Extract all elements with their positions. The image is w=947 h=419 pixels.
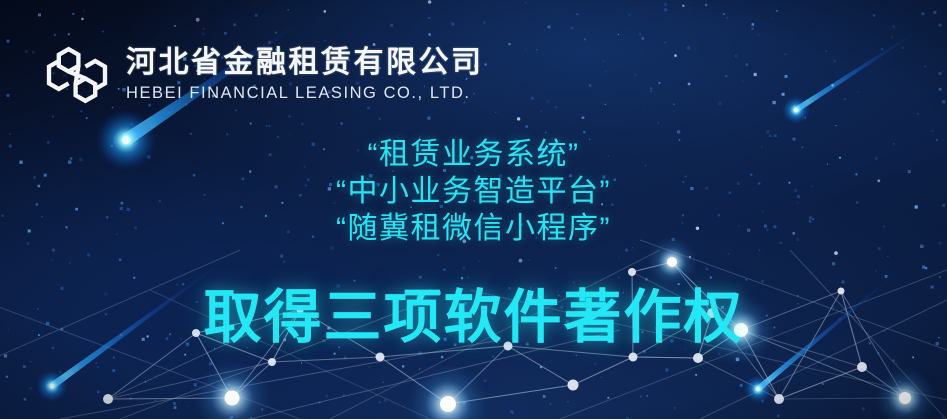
brand-lockup: 河北省金融租赁有限公司 HEBEI FINANCIAL LEASING CO.,…	[42, 40, 484, 110]
headline-line-3: “随冀租微信小程序”	[0, 210, 947, 247]
main-title: 取得三项软件著作权	[0, 284, 947, 352]
headline-line-1: “租赁业务系统”	[0, 136, 947, 173]
headline-group: “租赁业务系统” “中小业务智造平台” “随冀租微信小程序”	[0, 136, 947, 247]
headline-line-2: “中小业务智造平台”	[0, 173, 947, 210]
brand-text-block: 河北省金融租赁有限公司 HEBEI FINANCIAL LEASING CO.,…	[126, 47, 484, 103]
company-name-en: HEBEI FINANCIAL LEASING CO., LTD.	[126, 83, 484, 104]
promo-banner: 河北省金融租赁有限公司 HEBEI FINANCIAL LEASING CO.,…	[0, 0, 947, 419]
hebei-financial-leasing-logo-icon	[42, 40, 112, 110]
company-name-cn: 河北省金融租赁有限公司	[126, 47, 484, 79]
